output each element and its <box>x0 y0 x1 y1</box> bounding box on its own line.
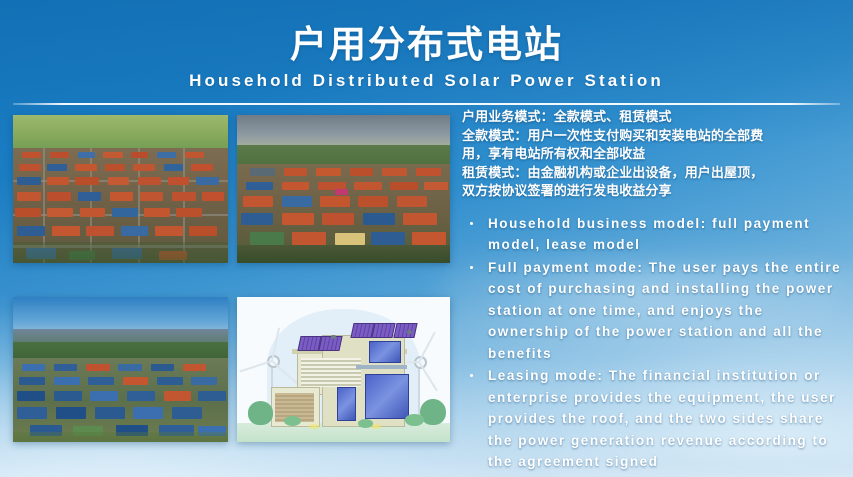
text-panel: 户用业务模式：全款模式、租赁模式 全款模式：用户一次性支付购买和安装电站的全部费… <box>462 108 845 473</box>
list-item: Leasing mode: The financial institution … <box>462 365 845 473</box>
photo-aerial-village-red-roofs <box>13 115 228 263</box>
illustration-solar-house <box>237 297 450 442</box>
page-title-english: Household Distributed Solar Power Statio… <box>0 70 853 91</box>
photo-aerial-village-hills-solar <box>13 297 228 442</box>
chinese-line: 户用业务模式：全款模式、租赁模式 <box>462 108 845 127</box>
chinese-line: 全款模式：用户一次性支付购买和安装电站的全部费 <box>462 127 845 146</box>
chinese-description: 户用业务模式：全款模式、租赁模式 全款模式：用户一次性支付购买和安装电站的全部费… <box>462 108 845 201</box>
list-item: Full payment mode: The user pays the ent… <box>462 257 845 365</box>
chinese-line: 租赁模式：由金融机构或企业出设备，用户出屋顶， <box>462 164 845 183</box>
slide: 户用分布式电站 Household Distributed Solar Powe… <box>0 0 853 477</box>
list-item: Household business model: full payment m… <box>462 213 845 256</box>
header-divider <box>13 103 840 105</box>
chinese-line: 双方按协议签署的进行发电收益分享 <box>462 182 845 201</box>
chinese-line: 用，享有电站所有权和全部收益 <box>462 145 845 164</box>
slide-header: 户用分布式电站 Household Distributed Solar Powe… <box>0 0 853 100</box>
english-bullet-list: Household business model: full payment m… <box>462 213 845 473</box>
page-title-chinese: 户用分布式电站 <box>0 24 853 66</box>
photo-aerial-village-solar-roofs <box>237 115 450 263</box>
